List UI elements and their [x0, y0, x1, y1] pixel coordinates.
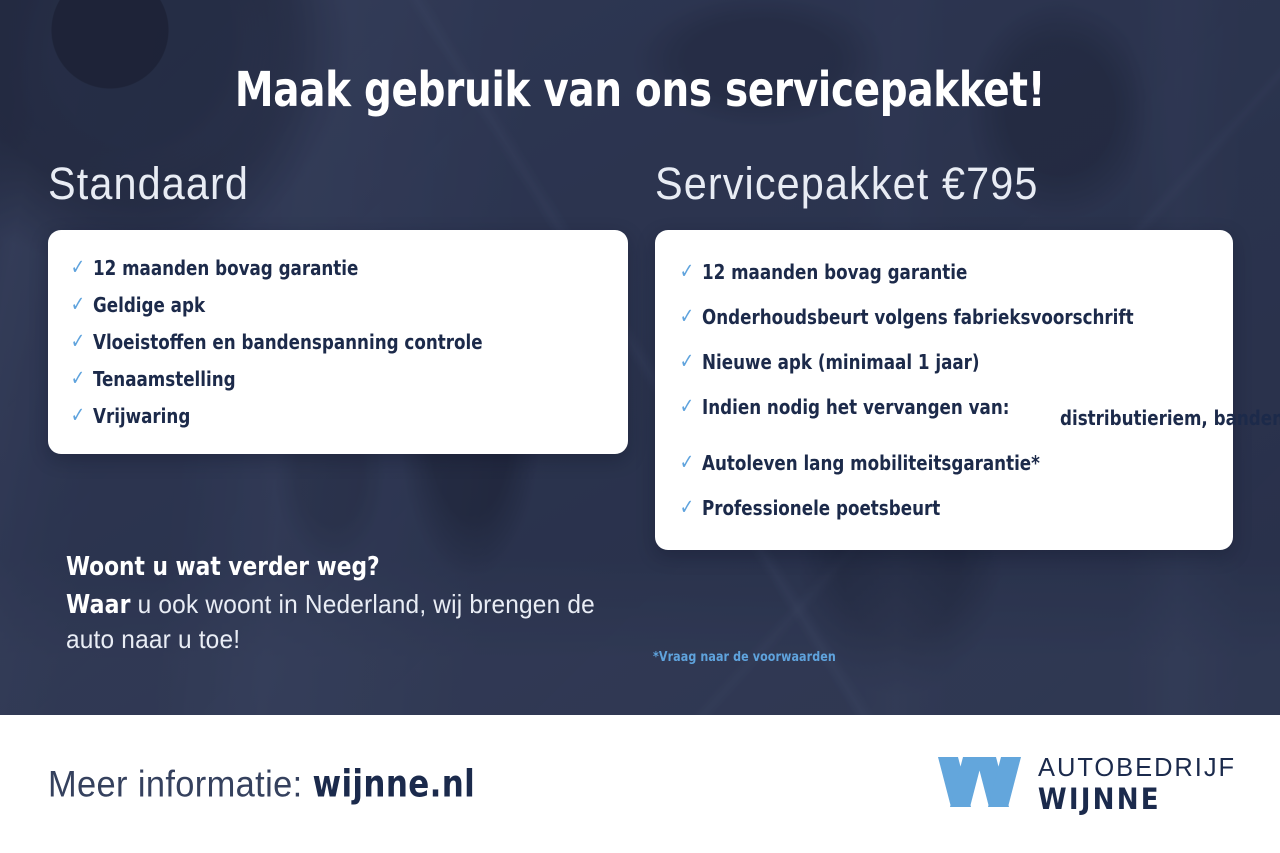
list-item: ✓ Vrijwaring [70, 404, 598, 428]
footer-info-label: Meer informatie: [48, 764, 312, 805]
card-servicepakket: ✓ 12 maanden bovag garantie ✓ Onderhouds… [655, 230, 1233, 550]
feature-sub-label: distributieriem, banden, remmen, etc. [1060, 406, 1280, 430]
feature-label: 12 maanden bovag garantie [702, 260, 967, 284]
footer-info: Meer informatie: wijnne.nl [48, 763, 475, 806]
column-title-servicepakket: Servicepakket €795 [655, 160, 1187, 207]
feature-label: Onderhoudsbeurt volgens fabrieksvoorschr… [702, 305, 1134, 329]
logo-wijnne: WIJNNE [1038, 785, 1240, 814]
promo-question: Woont u wat verder weg? [66, 552, 587, 582]
list-item: ✓ Onderhoudsbeurt volgens fabrieksvoorsc… [679, 305, 1203, 329]
check-icon: ✓ [71, 368, 85, 389]
check-icon: ✓ [71, 405, 85, 426]
check-icon: ✓ [71, 331, 85, 352]
footer-website[interactable]: wijnne.nl [312, 763, 475, 806]
feature-label: Vrijwaring [93, 404, 190, 428]
list-item: ✓ 12 maanden bovag garantie [70, 256, 598, 280]
check-icon: ✓ [680, 351, 694, 372]
feature-label: 12 maanden bovag garantie [93, 256, 358, 280]
list-item: ✓ Nieuwe apk (minimaal 1 jaar) [679, 350, 1203, 374]
list-item: ✓ Vloeistoffen en bandenspanning control… [70, 330, 598, 354]
feature-label: Tenaamstelling [93, 367, 236, 391]
card-standaard: ✓ 12 maanden bovag garantie ✓ Geldige ap… [48, 230, 628, 454]
feature-label: Professionele poetsbeurt [702, 496, 940, 520]
feature-label: Geldige apk [93, 293, 205, 317]
check-icon: ✓ [680, 396, 694, 417]
check-icon: ✓ [680, 306, 694, 327]
check-icon: ✓ [71, 257, 85, 278]
feature-list-servicepakket: ✓ 12 maanden bovag garantie ✓ Onderhouds… [679, 260, 1203, 520]
logo-wordmark: AUTOBEDRIJF WIJNNE [1038, 754, 1240, 814]
feature-label: Indien nodig het vervangen van: [702, 395, 1009, 419]
feature-label: Nieuwe apk (minimaal 1 jaar) [702, 350, 980, 374]
page-title: Maak gebruik van ons servicepakket! [64, 62, 1216, 118]
column-servicepakket: Servicepakket €795 ✓ 12 maanden bovag ga… [655, 160, 1233, 550]
logo-autobedrijf: AUTOBEDRIJF [1038, 754, 1236, 780]
feature-list-standaard: ✓ 12 maanden bovag garantie ✓ Geldige ap… [70, 256, 598, 428]
promo-block: Woont u wat verder weg? Waar u ook woont… [66, 552, 626, 657]
check-icon: ✓ [680, 497, 694, 518]
list-item: ✓ Indien nodig het vervangen van: distri… [679, 395, 1203, 430]
promo-answer: Waar u ook woont in Nederland, wij breng… [66, 588, 630, 657]
list-item: ✓ Tenaamstelling [70, 367, 598, 391]
feature-row: ✓ Indien nodig het vervangen van: [679, 395, 1032, 419]
column-standaard: Standaard ✓ 12 maanden bovag garantie ✓ … [48, 160, 628, 454]
list-item: ✓ Autoleven lang mobiliteitsgarantie* [679, 451, 1203, 475]
footnote-voorwaarden: *Vraag naar de voorwaarden [653, 650, 836, 665]
service-package-poster: Maak gebruik van ons servicepakket! Stan… [0, 0, 1280, 853]
column-title-standaard: Standaard [48, 160, 582, 207]
promo-answer-bold: Waar [66, 590, 131, 620]
feature-label: Vloeistoffen en bandenspanning controle [93, 330, 483, 354]
check-icon: ✓ [680, 261, 694, 282]
footer-bar: Meer informatie: wijnne.nl AUTOBEDRIJF W… [0, 715, 1280, 853]
list-item: ✓ Professionele poetsbeurt [679, 496, 1203, 520]
check-icon: ✓ [71, 294, 85, 315]
brand-logo[interactable]: AUTOBEDRIJF WIJNNE [938, 754, 1240, 814]
list-item: ✓ Geldige apk [70, 293, 598, 317]
feature-label: Autoleven lang mobiliteitsgarantie* [702, 451, 1040, 475]
check-icon: ✓ [680, 452, 694, 473]
promo-answer-rest: u ook woont in Nederland, wij brengen de… [66, 589, 595, 654]
wijnne-w-logo-icon [938, 757, 1022, 812]
list-item: ✓ 12 maanden bovag garantie [679, 260, 1203, 284]
